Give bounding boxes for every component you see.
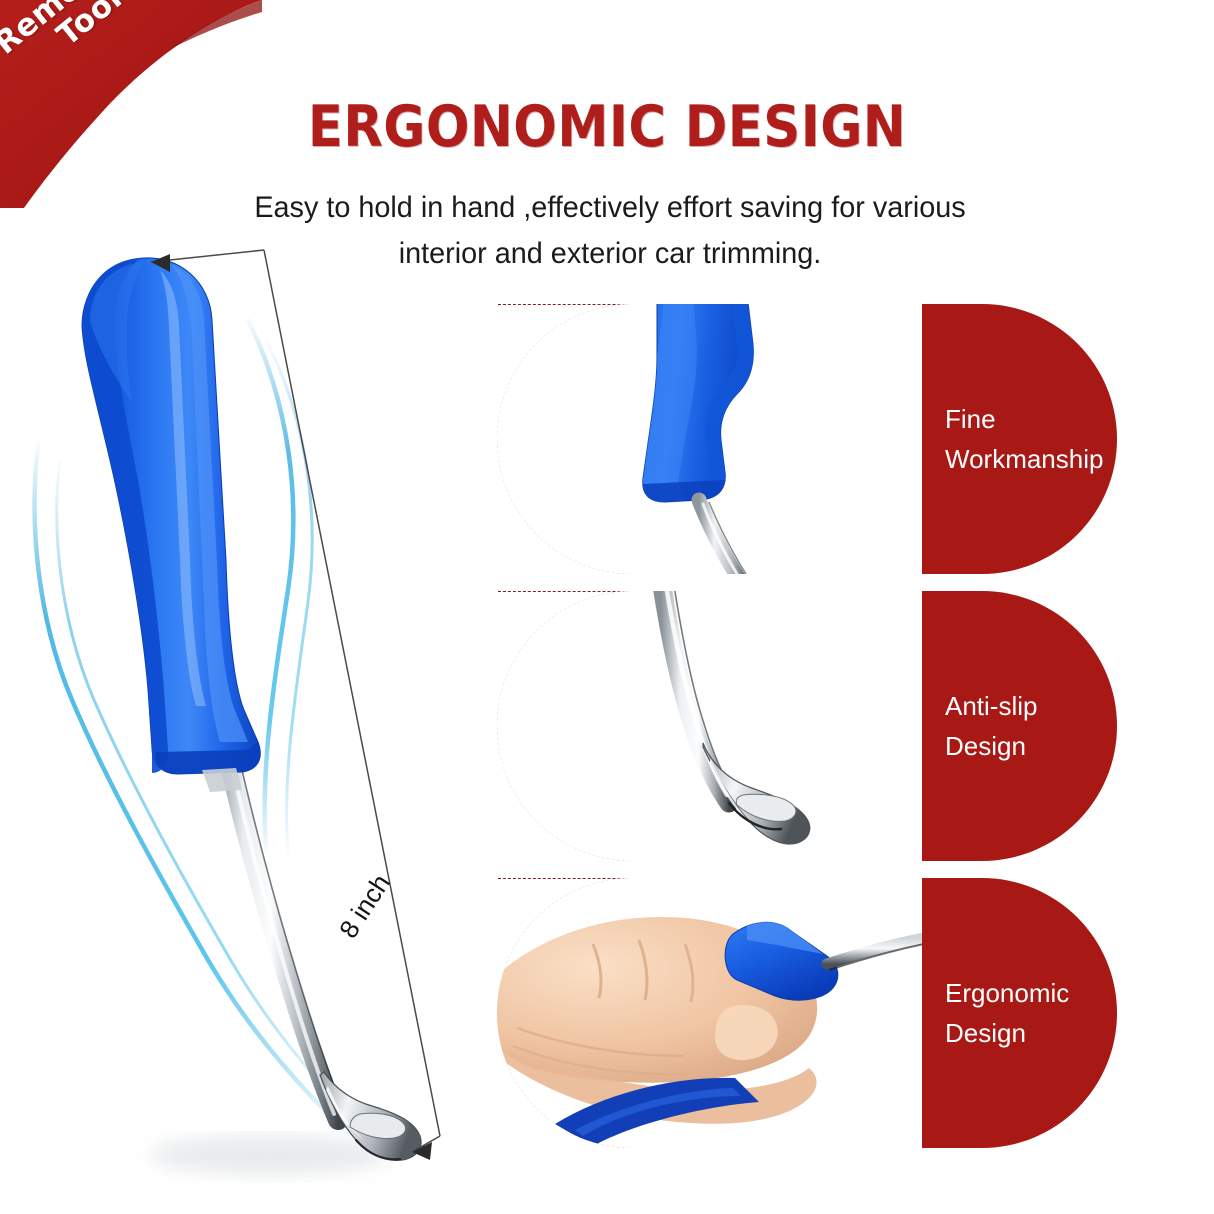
feature-card-label: Anti-slip Design (922, 686, 1037, 767)
ribbon-label-line1: Removal (0, 0, 130, 62)
feature-card-label-line2: Design (945, 1013, 1069, 1053)
feature-card-panel: Anti-slip Design (922, 591, 1117, 861)
ribbon-label: Removal Tool (0, 0, 162, 96)
feature-card-label-line1: Fine (945, 399, 1095, 439)
page-subtitle-line1: Easy to hold in hand ,effectively effort… (188, 185, 1033, 231)
accent-glow-right (248, 320, 293, 850)
feature-card-photo-tip (497, 591, 924, 861)
feature-card-label: Ergonomic Design (922, 973, 1069, 1054)
feature-card-label-line1: Ergonomic (945, 973, 1069, 1013)
tool-handle (82, 258, 260, 774)
feature-card-list: Fine Workmanship (497, 304, 1117, 1165)
infographic-canvas: Removal Tool ERGONOMIC DESIGN Easy to ho… (0, 0, 1214, 1214)
feature-card-photo-handle (497, 304, 924, 574)
feature-card-anti-slip: Anti-slip Design (497, 591, 1117, 861)
feature-card-fine-workmanship: Fine Workmanship (497, 304, 1117, 574)
feature-card-label-line2: Workmanship (945, 439, 1095, 479)
hero-product-image: 8 inch (20, 230, 490, 1200)
ribbon-label-line2: Tool (18, 0, 161, 79)
feature-card-ergonomic: Ergonomic Design (497, 878, 1117, 1148)
feature-card-photo-hand (497, 878, 924, 1148)
feature-card-panel: Ergonomic Design (922, 878, 1117, 1148)
feature-card-label: Fine Workmanship (922, 399, 1095, 480)
feature-card-label-line2: Design (945, 726, 1037, 766)
feature-card-label-line1: Anti-slip (945, 686, 1037, 726)
feature-card-panel: Fine Workmanship (922, 304, 1117, 574)
trim-removal-tool-illustration (20, 230, 490, 1200)
page-title: ERGONOMIC DESIGN (61, 94, 1154, 160)
